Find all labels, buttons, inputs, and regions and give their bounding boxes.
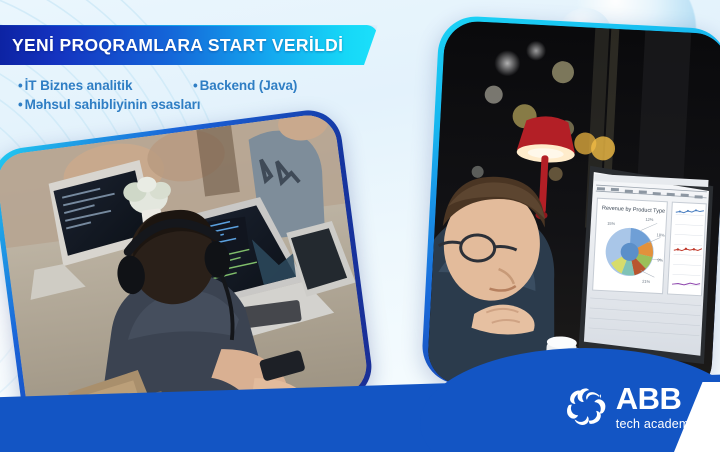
- title-banner: YENİ PROQRAMLARA START VERİLDİ: [0, 25, 378, 65]
- bullet-icon: •: [193, 78, 198, 93]
- abb-tech-academy-logo: ABB tech academy: [564, 383, 696, 431]
- list-item: •Backend (Java): [193, 78, 297, 93]
- program-list: •İT Biznes analitik •Backend (Java) •Məh…: [18, 78, 348, 116]
- logo-tagline: tech academy: [616, 418, 696, 431]
- bullet-icon: •: [18, 97, 23, 112]
- logo-text: ABB tech academy: [616, 383, 696, 431]
- svg-text:18%: 18%: [656, 232, 665, 237]
- list-item: •İT Biznes analitik: [18, 78, 193, 93]
- svg-text:9%: 9%: [657, 257, 663, 262]
- svg-text:12%: 12%: [645, 217, 654, 222]
- bullet-icon: •: [18, 78, 23, 93]
- svg-text:15%: 15%: [607, 221, 616, 226]
- program-row-2: •Məhsul sahibliyinin əsasları: [18, 97, 348, 112]
- page-title: YENİ PROQRAMLARA START VERİLDİ: [0, 35, 343, 56]
- list-item: •Məhsul sahibliyinin əsasları: [18, 97, 200, 112]
- program-row-1: •İT Biznes analitik •Backend (Java): [18, 78, 348, 93]
- pinwheel-icon: [564, 384, 608, 428]
- program-label-3: Məhsul sahibliyinin əsasları: [25, 97, 201, 112]
- svg-text:21%: 21%: [642, 279, 651, 284]
- logo-name: ABB: [616, 383, 696, 414]
- promo-banner: YENİ PROQRAMLARA START VERİLDİ •İT Bizne…: [0, 0, 720, 452]
- photo-card-right: Revenue by Product Type: [421, 15, 720, 398]
- program-label-2: Backend (Java): [200, 78, 298, 93]
- photo-right-image: Revenue by Product Type: [427, 20, 720, 397]
- program-label-1: İT Biznes analitik: [25, 78, 133, 93]
